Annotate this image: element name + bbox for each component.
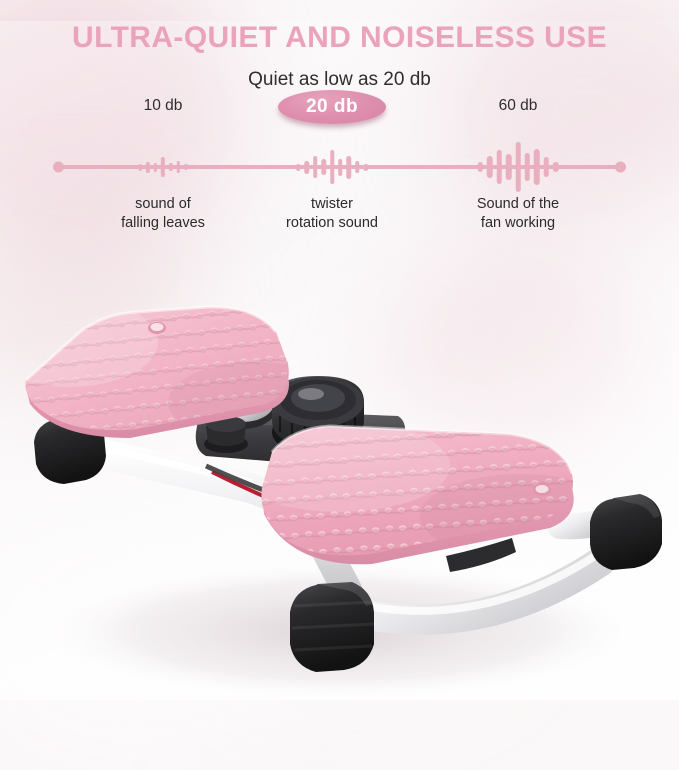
- waveform-bar: [534, 149, 539, 185]
- right-pedal: [230, 416, 620, 576]
- right-pedal-screw: [533, 484, 551, 496]
- waveform-bar: [363, 164, 367, 171]
- scale-node-60db: 60 db Sound of the fan working: [428, 95, 608, 117]
- waveform-bar: [347, 156, 351, 179]
- waveform-bar: [146, 162, 150, 173]
- page-subtitle: Quiet as low as 20 db: [0, 69, 679, 91]
- node-caption: Sound of the fan working: [428, 195, 608, 233]
- node-caption: sound of falling leaves: [73, 195, 253, 233]
- infographic-page: ULTRA-QUIET AND NOISELESS USE Quiet as l…: [0, 21, 679, 700]
- db-badge-wrap: 20 db: [242, 95, 422, 117]
- waveform-60db: [476, 143, 561, 191]
- db-label: 60 db: [428, 95, 608, 117]
- waveform-bar: [478, 162, 483, 172]
- db-label: 10 db: [73, 95, 253, 117]
- waveform-bar: [161, 157, 165, 177]
- waveform-bar: [497, 150, 502, 184]
- waveform-bar: [138, 164, 142, 171]
- waveform-bar: [305, 161, 309, 174]
- waveform-bar: [543, 157, 548, 177]
- waveform-bar: [506, 154, 511, 180]
- waveform-bar: [131, 165, 135, 169]
- waveform-bar: [525, 153, 530, 181]
- waveform-bar: [355, 161, 359, 173]
- waveform-bar: [296, 164, 300, 171]
- waveform-bar: [321, 159, 325, 175]
- axis-end-dot-left: [53, 162, 64, 173]
- waveform-bar: [330, 150, 334, 184]
- caption-line-1: twister: [242, 195, 422, 214]
- waveform-bar: [313, 156, 317, 178]
- decibel-scale: 10 db sound of falling leaves 20 db twis…: [0, 95, 679, 265]
- waveform-bar: [176, 161, 180, 173]
- foot-cap-right: [590, 494, 662, 570]
- caption-line-2: falling leaves: [73, 214, 253, 233]
- foot-cap-front: [290, 582, 374, 672]
- left-pedal-screw: [148, 322, 166, 334]
- waveform-bar: [192, 165, 196, 169]
- waveform-bar: [553, 162, 558, 172]
- axis-end-dot-right: [615, 162, 626, 173]
- waveform-bar: [154, 163, 158, 172]
- waveform-bar: [515, 142, 520, 192]
- caption-line-2: rotation sound: [242, 214, 422, 233]
- waveform-bar: [169, 163, 173, 171]
- waveform-10db: [129, 143, 197, 191]
- db-highlight-badge: 20 db: [278, 90, 386, 124]
- caption-line-1: Sound of the: [428, 195, 608, 214]
- node-caption: twister rotation sound: [242, 195, 422, 233]
- waveform-bar: [184, 164, 188, 170]
- product-image: [0, 276, 679, 700]
- waveform-bar: [338, 159, 342, 176]
- scale-node-20db: 20 db twister rotation sound: [242, 95, 422, 117]
- caption-line-1: sound of: [73, 195, 253, 214]
- scale-node-10db: 10 db sound of falling leaves: [73, 95, 253, 117]
- caption-line-2: fan working: [428, 214, 608, 233]
- waveform-bar: [487, 156, 492, 178]
- page-title: ULTRA-QUIET AND NOISELESS USE: [0, 21, 679, 55]
- waveform-20db: [294, 143, 370, 191]
